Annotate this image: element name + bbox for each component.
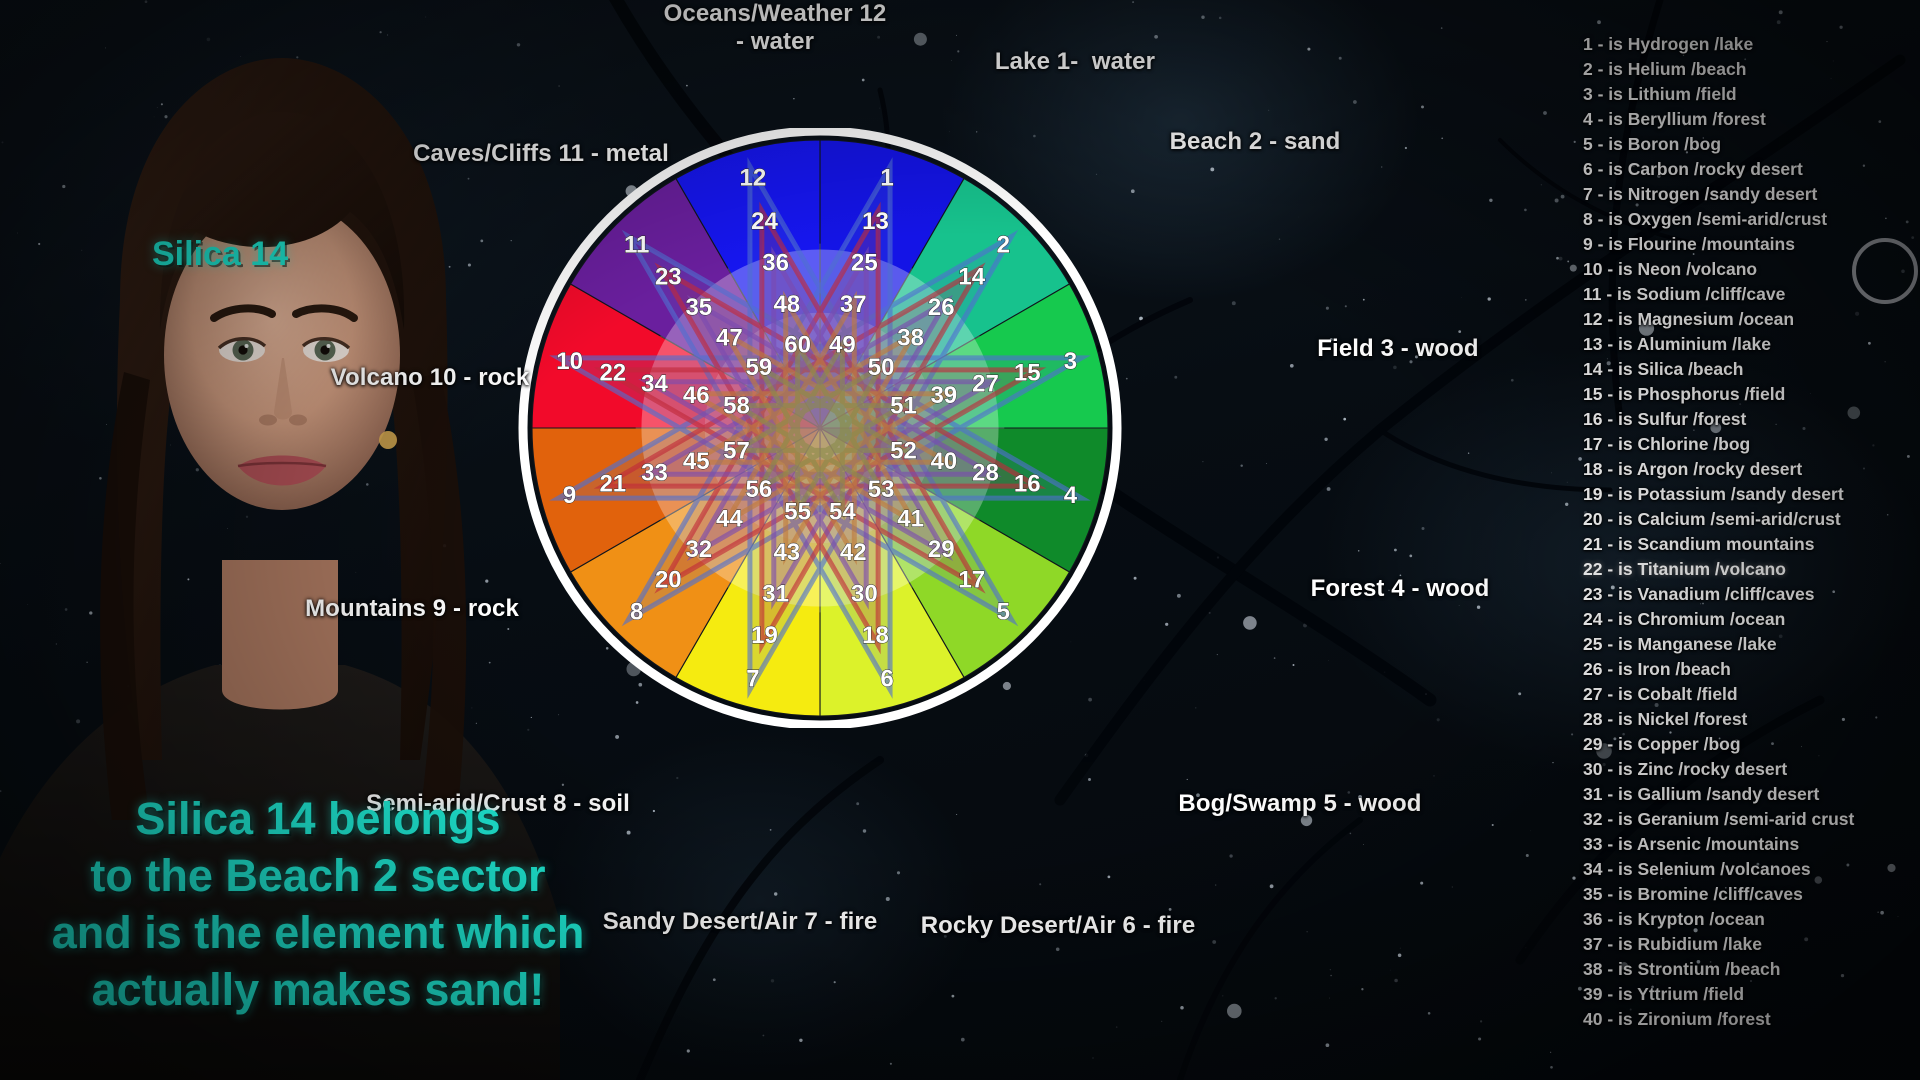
vignette-overlay [0, 0, 1920, 1080]
video-frame: 1132537492142638503152739514162840525172… [0, 0, 1920, 1080]
